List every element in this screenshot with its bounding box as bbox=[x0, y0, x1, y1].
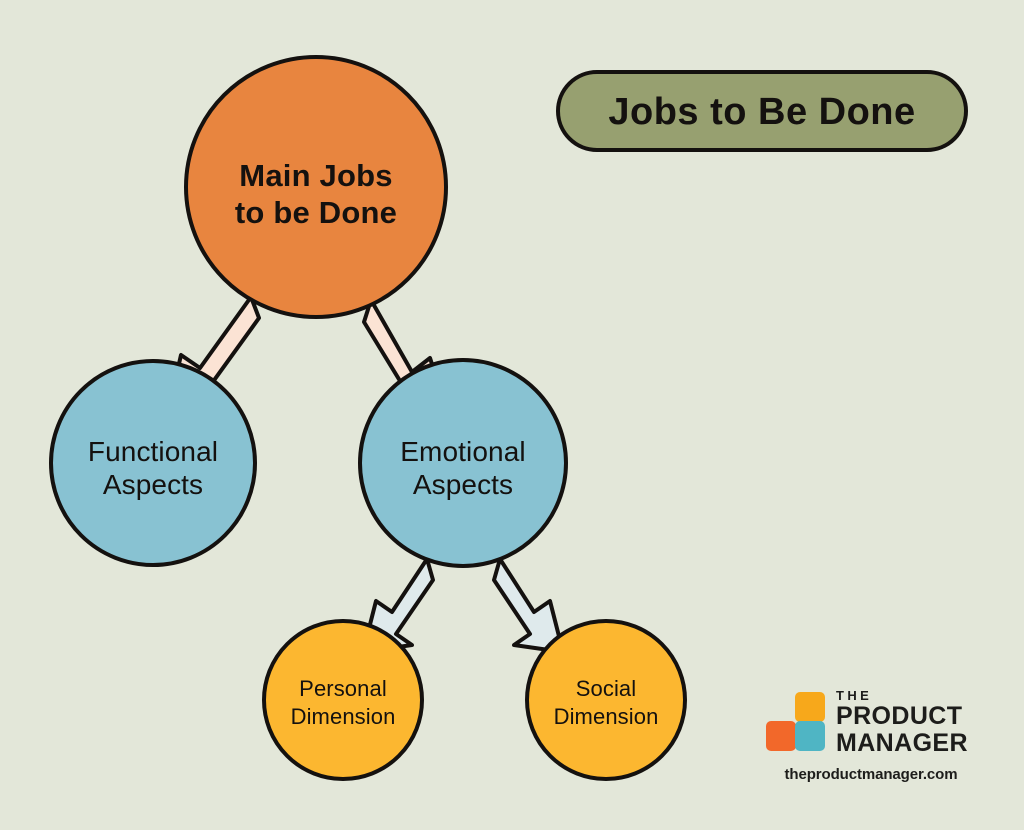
logo-mark-icon bbox=[766, 692, 828, 750]
diagram-canvas: Main Jobs to be Done Functional Aspects … bbox=[0, 0, 1024, 830]
node-social-dimension-line2: Dimension bbox=[554, 704, 659, 729]
node-personal-dimension-line1: Personal bbox=[299, 676, 387, 701]
brand-logo[interactable]: THE PRODUCT MANAGER theproductmanager.co… bbox=[766, 688, 976, 780]
node-personal-dimension[interactable]: Personal Dimension bbox=[264, 621, 422, 779]
logo-square-yellow bbox=[795, 692, 825, 722]
node-emotional-aspects[interactable]: Emotional Aspects bbox=[360, 360, 566, 566]
node-functional-aspects-line1: Functional bbox=[88, 436, 218, 467]
node-functional-aspects-line2: Aspects bbox=[103, 469, 203, 500]
title-badge: Jobs to Be Done bbox=[558, 72, 966, 150]
title-badge-label: Jobs to Be Done bbox=[608, 91, 915, 133]
logo-square-orange bbox=[766, 721, 796, 751]
node-personal-dimension-line2: Dimension bbox=[291, 704, 396, 729]
logo-wordmark: THE PRODUCT MANAGER bbox=[836, 688, 968, 757]
node-main-jobs-line1: Main Jobs bbox=[239, 158, 392, 193]
node-main-jobs-line2: to be Done bbox=[235, 195, 397, 230]
node-social-dimension[interactable]: Social Dimension bbox=[527, 621, 685, 779]
connector-emotional-to-social bbox=[494, 559, 563, 652]
logo-url[interactable]: theproductmanager.com bbox=[766, 766, 976, 783]
logo-manager: MANAGER bbox=[836, 730, 968, 757]
logo-square-teal bbox=[795, 721, 825, 751]
node-emotional-aspects-line1: Emotional bbox=[400, 436, 525, 467]
node-emotional-aspects-line2: Aspects bbox=[413, 469, 513, 500]
logo-product: PRODUCT bbox=[836, 703, 968, 730]
node-main-jobs[interactable]: Main Jobs to be Done bbox=[186, 57, 446, 317]
logo-the: THE bbox=[836, 688, 968, 703]
node-functional-aspects[interactable]: Functional Aspects bbox=[51, 361, 255, 565]
node-social-dimension-line1: Social bbox=[576, 676, 637, 701]
